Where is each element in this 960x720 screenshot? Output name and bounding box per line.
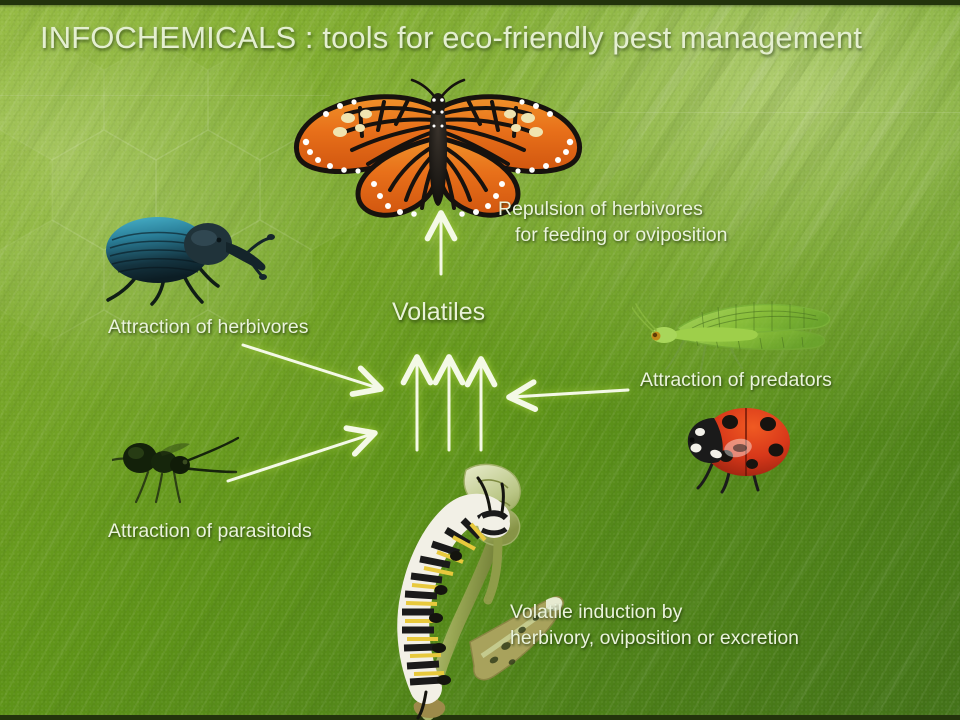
arrow-predator-to-hub [512,390,628,397]
label-attraction-herbivores: Attraction of herbivores [108,314,309,340]
label-induction-line2: herbivory, oviposition or excretion [510,625,799,651]
slide-canvas: INFOCHEMICALS : tools for eco-friendly p… [0,0,960,720]
label-attraction-parasitoids: Attraction of parasitoids [108,518,312,544]
label-induction-line1: Volatile induction by [510,599,682,625]
label-repulsion-line1: Repulsion of herbivores [498,196,703,222]
label-attraction-predators: Attraction of predators [640,367,832,393]
arrow-layer [0,0,960,720]
arrow-to-herbivore-hub [243,345,378,388]
arrow-parasitoid-to-hub [228,434,372,481]
label-volatiles: Volatiles [392,299,485,325]
label-repulsion-line2: for feeding or oviposition [515,222,727,248]
